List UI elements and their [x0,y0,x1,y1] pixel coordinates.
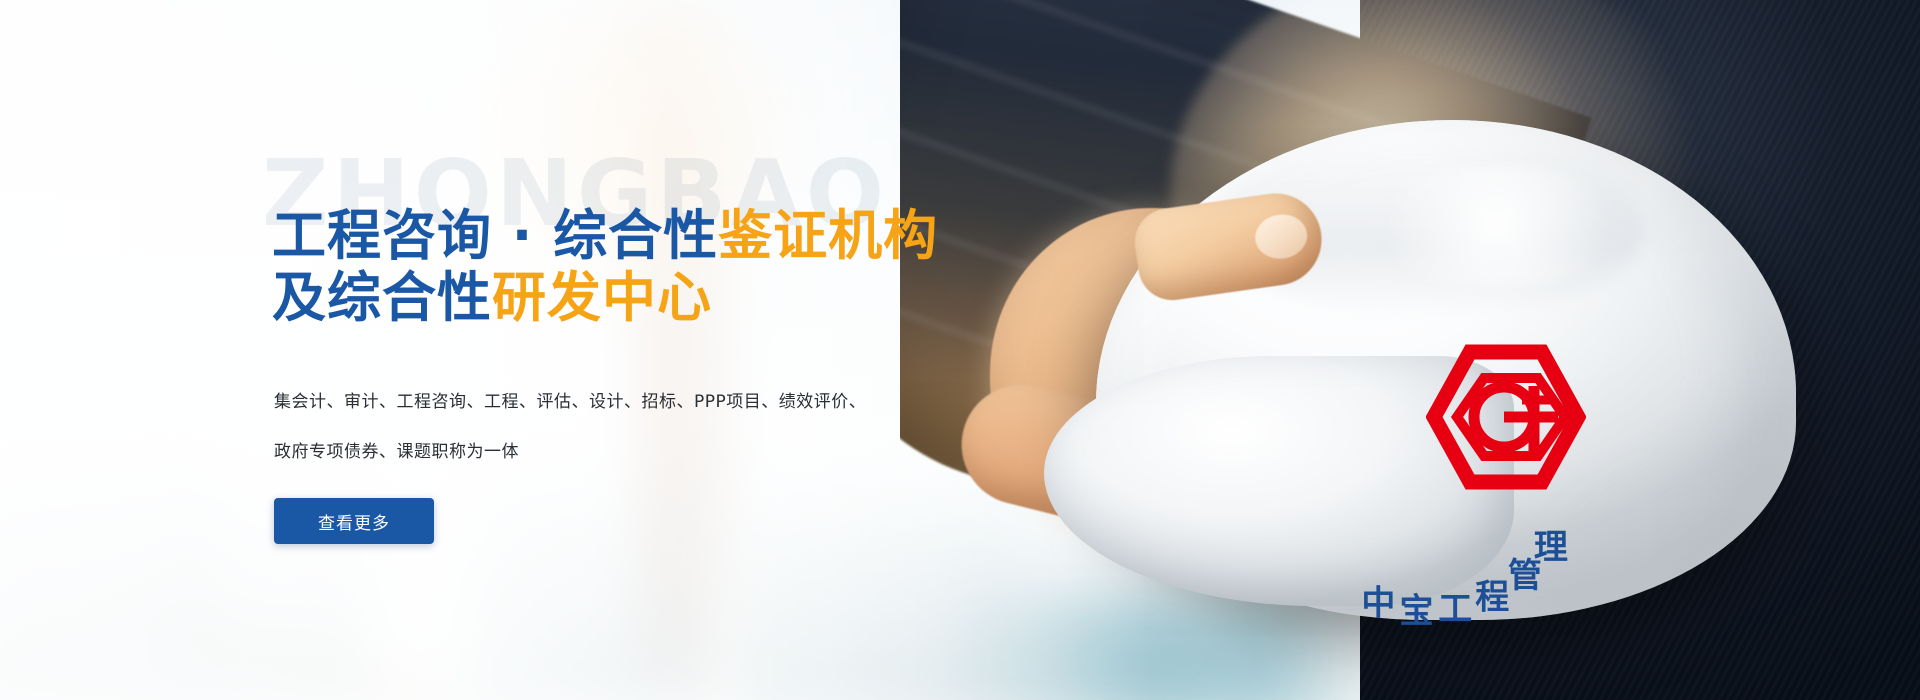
description-line-2: 政府专项债券、课题职称为一体 [274,440,1004,464]
hero-banner: 中 宝 工 程 管 理 [0,0,1920,700]
headline-line-2-orange: 研发中心 [492,266,712,329]
helmet-char: 理 [1534,519,1568,568]
zhongbao-hexagon-logo-icon [1426,342,1586,492]
helmet-char: 宝 [1399,584,1433,633]
description-line-1: 集会计、审计、工程咨询、工程、评估、设计、招标、PPP项目、绩效评价、 [274,390,1004,414]
headline-line-1-orange: 鉴证机构 [718,204,938,267]
view-more-button[interactable]: 查看更多 [274,498,434,544]
description: 集会计、审计、工程咨询、工程、评估、设计、招标、PPP项目、绩效评价、 政府专项… [274,390,1004,490]
helmet-char: 中 [1361,575,1395,624]
headline-line-2-blue: 及综合性 [272,266,492,329]
headline-line-1-blue: 工程咨询 · 综合性 [272,204,718,267]
headline-line-2: 及综合性研发中心 [272,267,1092,329]
page-title: 工程咨询 · 综合性鉴证机构 及综合性研发中心 [272,205,1092,329]
headline-line-1: 工程咨询 · 综合性鉴证机构 [272,205,1092,267]
helmet-char: 工 [1438,581,1472,630]
hero-content: ZHONGBAO 工程咨询 · 综合性鉴证机构 及综合性研发中心 集会计、审计、… [272,0,1092,700]
helmet-char: 程 [1475,569,1509,618]
